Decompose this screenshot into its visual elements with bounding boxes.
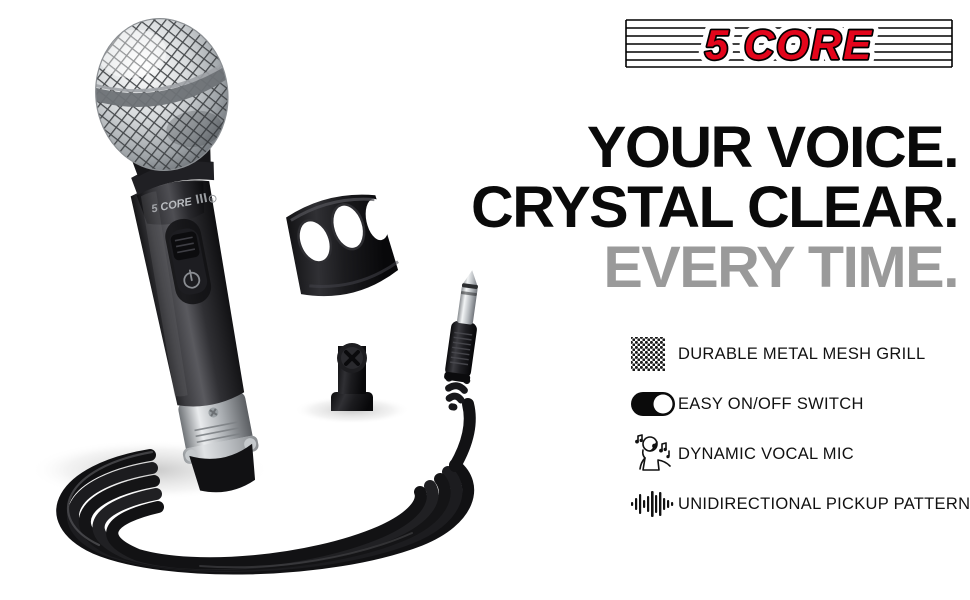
metal-mesh-grille [80,4,250,191]
dynamic-microphone: 5 CORE R [69,0,321,504]
svg-text:R: R [210,197,215,203]
feature-list: DURABLE METAL MESH GRILL EASY ON/OFF SWI… [630,330,960,530]
feature-label-onoff-switch: EASY ON/OFF SWITCH [678,395,864,414]
feature-row-onoff-switch: EASY ON/OFF SWITCH [630,380,960,428]
headline-block: YOUR VOICE. CRYSTAL CLEAR. EVERY TIME. [470,118,958,298]
metal-mesh-grid-icon [630,332,678,376]
feature-label-dynamic-vocal: DYNAMIC VOCAL MIC [678,445,854,464]
headline-line-1: YOUR VOICE. [460,118,958,178]
product-photo-group: 5 CORE R [0,0,600,600]
feature-label-pickup-pattern: UNIDIRECTIONAL PICKUP PATTERN [678,495,970,514]
microphone-clip-holder [280,186,404,411]
feature-row-mesh-grill: DURABLE METAL MESH GRILL [630,330,960,378]
headline-line-3: EVERY TIME. [460,238,958,298]
audio-waveform-icon [630,482,678,526]
brand-logo-banner: 5 CORE 5 CORE 5 CORE [624,12,954,74]
product-banner-image: 5 CORE R [0,0,970,600]
headline-line-2: CRYSTAL CLEAR. [460,178,958,238]
singer-with-mic-icon [630,432,678,476]
cable-to-plug [455,404,470,466]
toggle-switch-on-icon [630,382,678,426]
feature-label-mesh-grill: DURABLE METAL MESH GRILL [678,345,925,364]
logo-wordmark: 5 CORE [705,21,873,68]
feature-row-pickup-pattern: UNIDIRECTIONAL PICKUP PATTERN [630,480,960,528]
feature-row-dynamic-vocal: DYNAMIC VOCAL MIC [630,430,960,478]
